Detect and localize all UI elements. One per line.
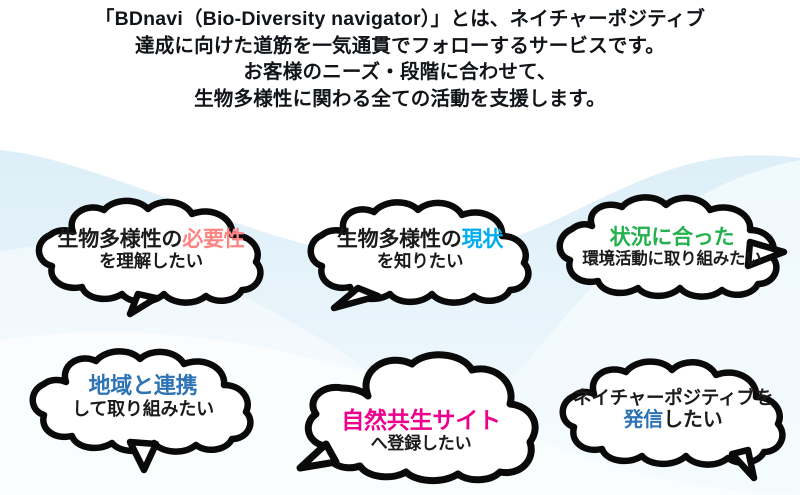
bubble-broadcast-highlight: 発信 <box>623 409 663 431</box>
bubble-site-line2: へ登録したい <box>296 434 546 453</box>
bubble-situation[interactable]: 状況に合った 環境活動に取り組みたい <box>552 200 792 300</box>
header-line-4: 生物多様性に関わる全ての活動を支援します。 <box>0 86 800 113</box>
bubble-broadcast-text: ネイチャーポジティブを 発信したい <box>548 388 798 431</box>
bubble-need-text: 生物多様性の必要性 を理解したい <box>26 228 276 271</box>
bubble-need-line1: 生物多様性の必要性 <box>26 228 276 252</box>
header-line-2: 達成に向けた道筋を一気通貫でフォローするサービスです。 <box>0 33 800 60</box>
bubble-site-text: 自然共生サイト へ登録したい <box>296 408 546 453</box>
bubble-status-line2: を知りたい <box>300 252 540 272</box>
bubble-status-text: 生物多様性の現状 を知りたい <box>300 228 540 271</box>
bubble-need[interactable]: 生物多様性の必要性 を理解したい <box>26 202 276 306</box>
page-title: 「BDnavi（Bio-Diversity navigator）」とは、ネイチャ… <box>0 6 800 112</box>
bubble-site-line1: 自然共生サイト <box>296 408 546 434</box>
bubble-status-line1: 生物多様性の現状 <box>300 228 540 252</box>
header-line-3: お客様のニーズ・段階に合わせて、 <box>0 59 800 86</box>
bubble-situation-highlight: 状況に合った <box>610 226 735 249</box>
bubble-need-line2: を理解したい <box>26 252 276 272</box>
bubble-site-highlight: 自然共生サイト <box>341 407 501 433</box>
bubble-site[interactable]: 自然共生サイト へ登録したい <box>296 356 546 486</box>
bubble-situation-line1: 状況に合った <box>552 226 792 250</box>
bubble-need-highlight: 必要性 <box>182 228 244 251</box>
bubble-region-text: 地域と連携 して取り組みたい <box>18 374 268 419</box>
bubble-region-line1: 地域と連携 <box>18 374 268 399</box>
header-line-1: 「BDnavi（Bio-Diversity navigator）」とは、ネイチャ… <box>0 6 800 33</box>
slide-canvas: 「BDnavi（Bio-Diversity navigator）」とは、ネイチャ… <box>0 0 800 495</box>
bubble-situation-text: 状況に合った 環境活動に取り組みたい <box>552 226 792 268</box>
bubble-status-highlight: 現状 <box>462 228 504 251</box>
bubble-region-highlight: 地域と連携 <box>88 373 197 398</box>
bubble-region[interactable]: 地域と連携 して取り組みたい <box>18 352 268 458</box>
bubble-broadcast-line1: ネイチャーポジティブを <box>548 388 798 409</box>
bubble-status[interactable]: 生物多様性の現状 を知りたい <box>300 204 540 306</box>
bubble-broadcast-line2: 発信したい <box>548 409 798 431</box>
bubble-broadcast[interactable]: ネイチャーポジティブを 発信したい <box>548 362 798 474</box>
bubble-region-line2: して取り組みたい <box>18 399 268 419</box>
bubble-situation-line2: 環境活動に取り組みたい <box>552 250 792 268</box>
